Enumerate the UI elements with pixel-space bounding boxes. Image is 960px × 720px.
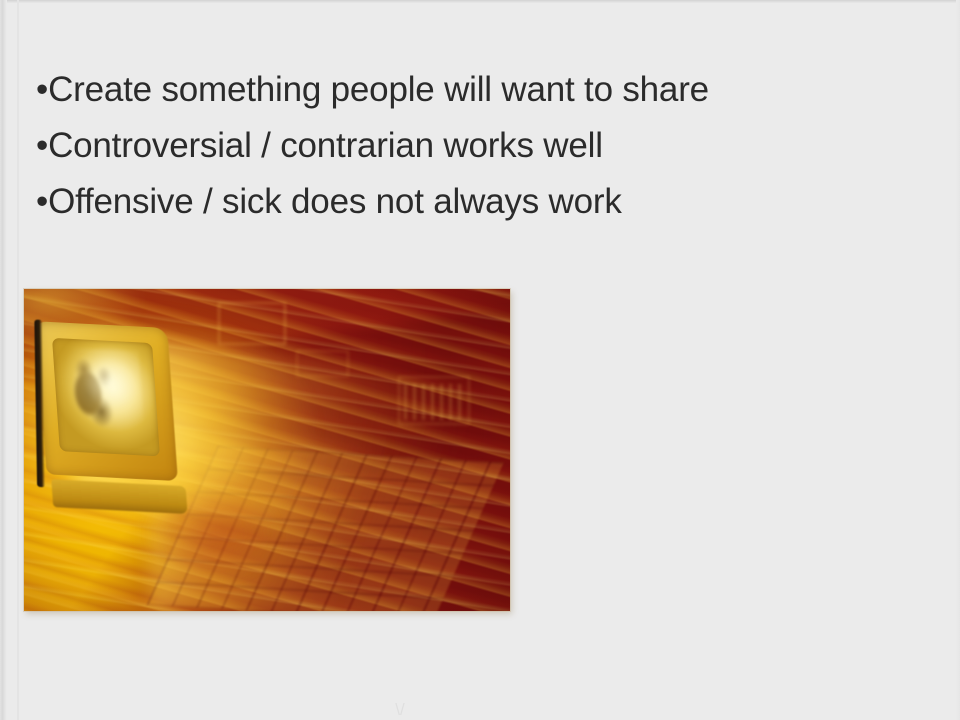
slide-left-inner-line [17, 0, 19, 720]
bullet-list: •Create something people will want to sh… [36, 62, 926, 230]
laptop-stock-photo [24, 289, 510, 611]
list-item: •Create something people will want to sh… [36, 62, 926, 118]
list-item: •Controversial / contrarian works well [36, 118, 926, 174]
photo-vignette [24, 289, 510, 611]
list-item: •Offensive / sick does not always work [36, 174, 926, 230]
bullet-text-2: Controversial / contrarian works well [48, 126, 603, 165]
bullet-point-icon: • [36, 62, 48, 118]
bullet-text-3: Offensive / sick does not always work [48, 182, 622, 221]
scan-artifact-mark: \/ [388, 700, 412, 720]
slide-image [24, 289, 510, 611]
bullet-text-1: Create something people will want to sha… [48, 70, 709, 109]
slide-left-edge-line [0, 0, 7, 720]
bullet-point-icon: • [36, 174, 48, 230]
presentation-slide: •Create something people will want to sh… [0, 0, 960, 720]
slide-top-edge-line [0, 0, 960, 3]
bullet-point-icon: • [36, 118, 48, 174]
slide-right-edge-line [956, 0, 960, 720]
